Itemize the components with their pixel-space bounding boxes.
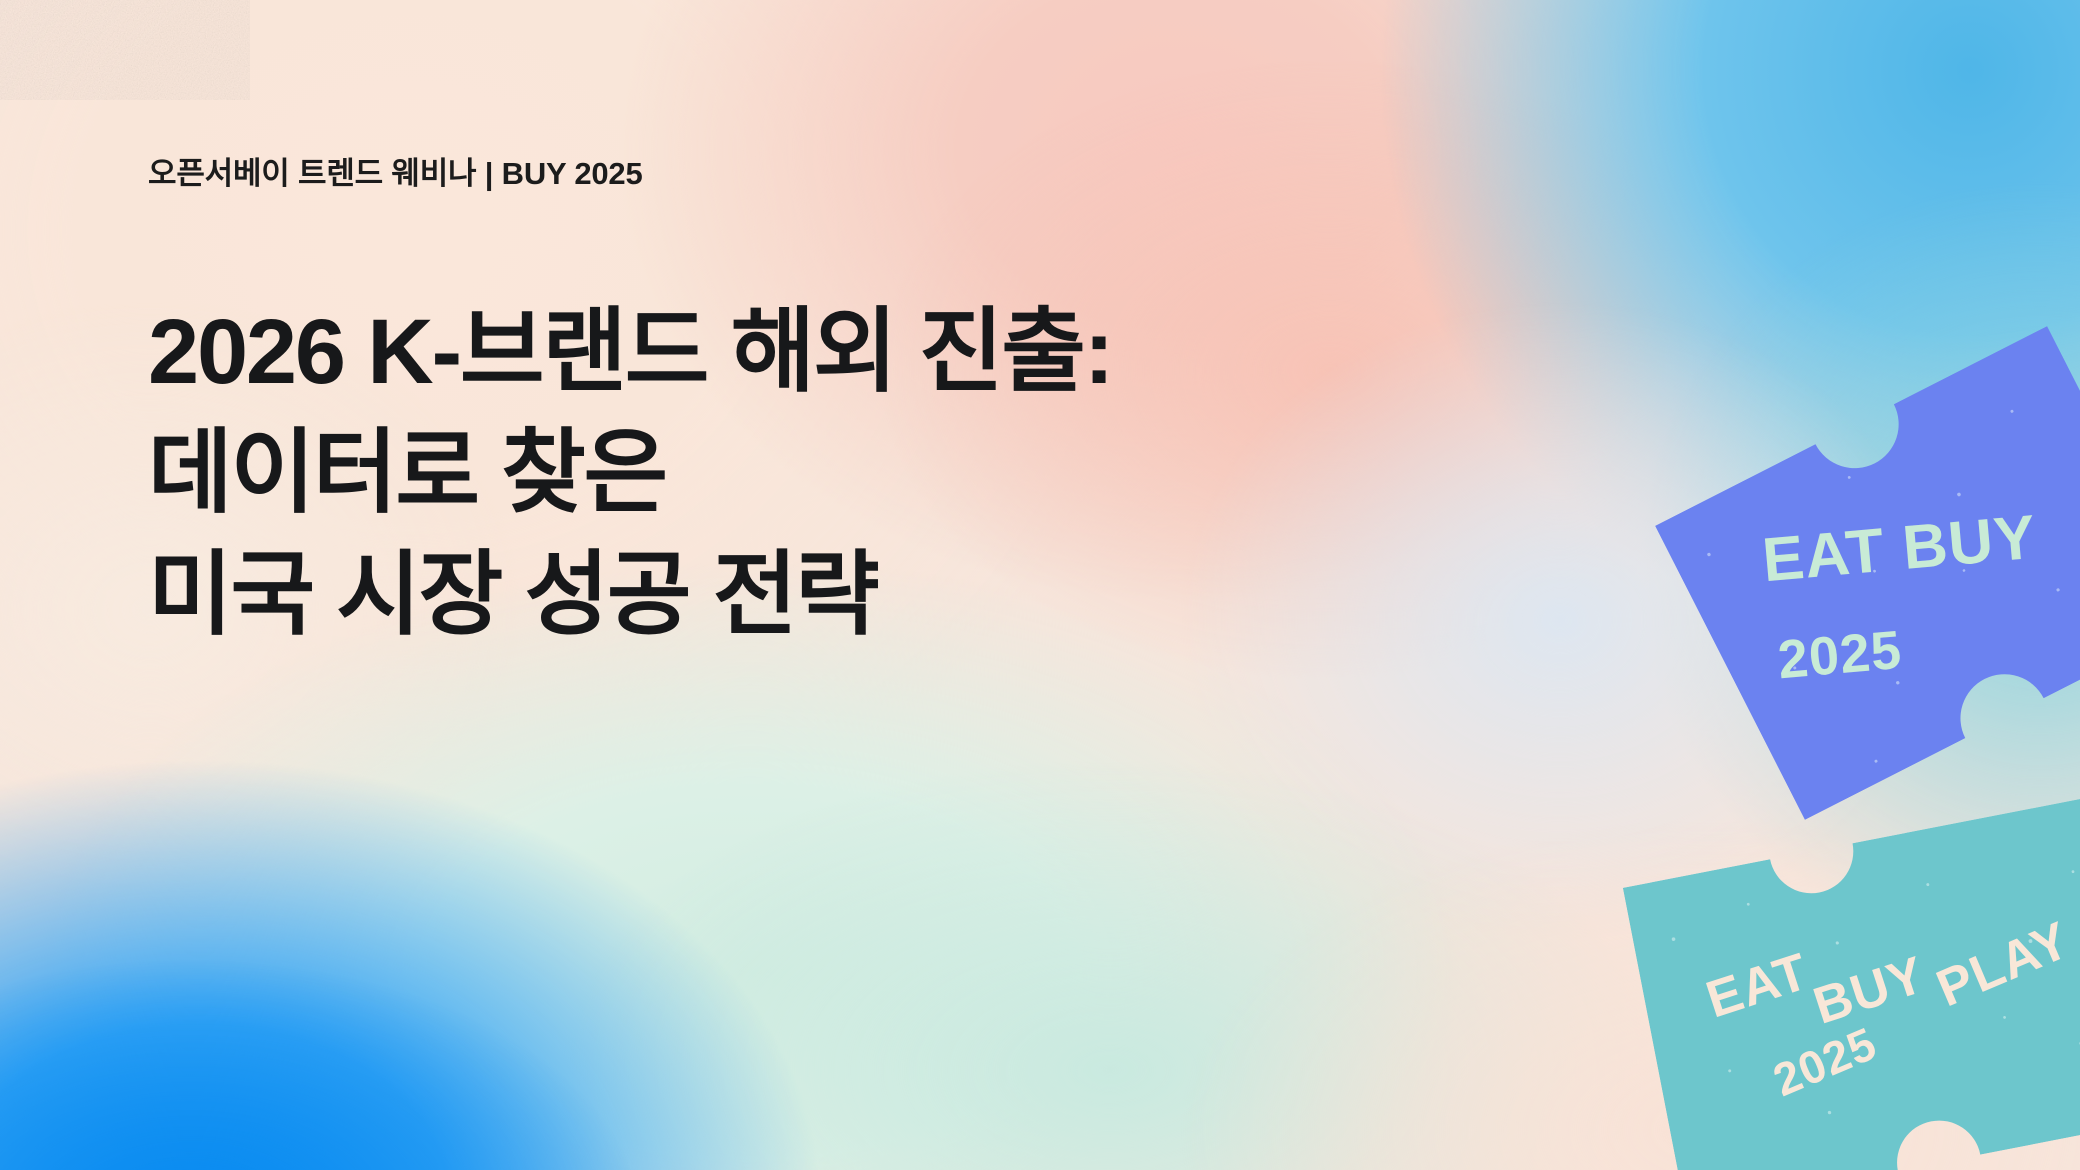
page-title: 2026 K-브랜드 해외 진출: 데이터로 찾은 미국 시장 성공 전략 <box>148 292 1112 656</box>
page-title-line-2: 데이터로 찾은 <box>148 413 1112 534</box>
webinar-eyebrow-label: 오픈서베이 트렌드 웨비나 | BUY 2025 <box>148 148 643 193</box>
hero-banner: EAT BUY PLAY 2025 <box>0 0 2080 1170</box>
page-title-line-1: 2026 K-브랜드 해외 진출: <box>148 292 1112 413</box>
page-title-line-3: 미국 시장 성공 전략 <box>148 535 1112 656</box>
